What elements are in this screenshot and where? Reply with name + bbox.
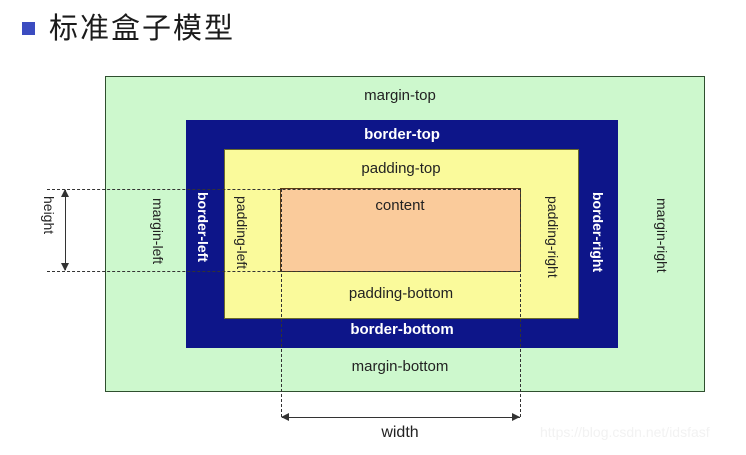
- box-model-diagram: 标准盒子模型 margin-top border-top padding-top…: [0, 0, 746, 455]
- bullet-square-icon: [22, 22, 35, 35]
- guide-line-content-top: [47, 189, 521, 190]
- guide-line-content-right: [520, 189, 521, 417]
- label-margin-right: margin-right: [654, 198, 670, 273]
- width-arrow-right-icon: [512, 413, 520, 421]
- height-measure-line: [65, 190, 66, 270]
- watermark: https://blog.csdn.net/idsfasf: [540, 424, 710, 440]
- label-border-top: border-top: [364, 126, 440, 143]
- guide-line-content-left: [281, 189, 282, 417]
- height-arrow-down-icon: [61, 263, 69, 271]
- label-padding-top: padding-top: [361, 160, 440, 177]
- label-padding-bottom: padding-bottom: [349, 285, 453, 302]
- label-width: width: [381, 424, 418, 442]
- label-content: content: [375, 197, 424, 214]
- height-arrow-up-icon: [61, 189, 69, 197]
- label-margin-top: margin-top: [364, 87, 436, 104]
- label-margin-bottom: margin-bottom: [352, 358, 449, 375]
- label-padding-right: padding-right: [545, 196, 561, 278]
- label-border-left: border-left: [195, 192, 211, 262]
- label-height: height: [41, 196, 57, 234]
- label-border-right: border-right: [590, 192, 606, 272]
- label-border-bottom: border-bottom: [350, 321, 453, 338]
- label-padding-left: padding-left: [234, 196, 250, 269]
- width-measure-line: [282, 417, 520, 418]
- page-title: 标准盒子模型: [22, 14, 235, 43]
- width-arrow-left-icon: [281, 413, 289, 421]
- page-title-text: 标准盒子模型: [49, 14, 235, 43]
- label-margin-left: margin-left: [150, 198, 166, 264]
- guide-line-content-bottom: [47, 271, 521, 272]
